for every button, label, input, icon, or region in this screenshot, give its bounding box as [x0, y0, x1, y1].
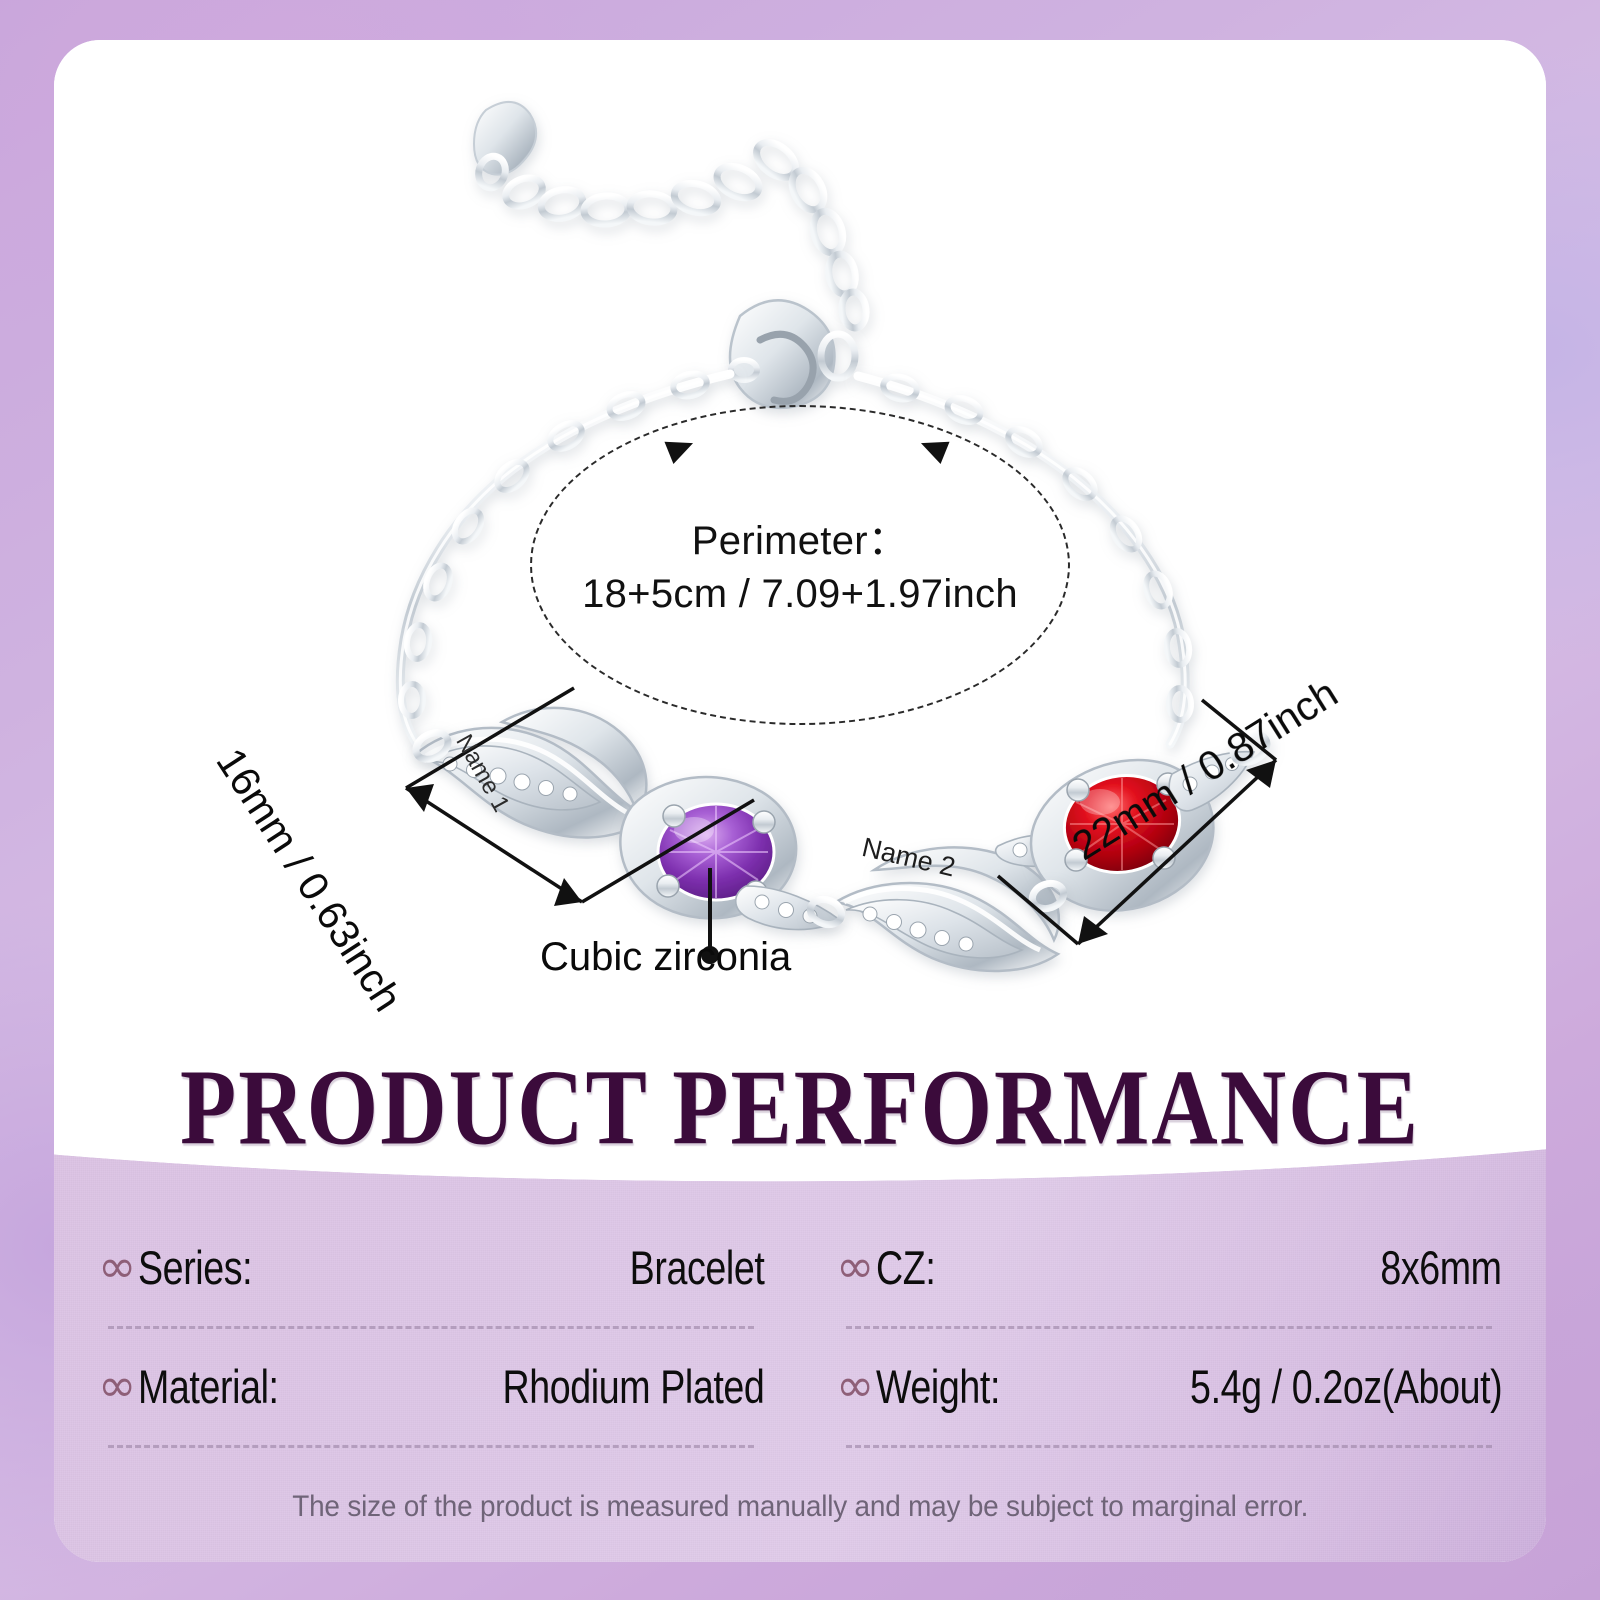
spec-value-cz: 8x6mm — [1381, 1240, 1502, 1295]
perimeter-value: 18+5cm / 7.09+1.97inch — [530, 568, 1070, 621]
spec-separator — [846, 1326, 1492, 1329]
spec-row: ∞ CZ: 8x6mm — [836, 1240, 1502, 1326]
spec-row: ∞ Material: Rhodium Plated — [98, 1359, 764, 1445]
spec-value-material: Rhodium Plated — [502, 1359, 764, 1414]
spec-row: ∞ Series: Bracelet — [98, 1240, 764, 1326]
spec-value-series: Bracelet — [629, 1240, 764, 1295]
extension-chain — [474, 102, 868, 329]
measurement-disclaimer: The size of the product is measured manu… — [54, 1490, 1546, 1524]
spec-separator — [108, 1326, 754, 1329]
product-card: Perimeter： 18+5cm / 7.09+1.97inch 16mm /… — [54, 40, 1546, 1562]
gem-setting-purple — [620, 777, 840, 929]
spec-separator — [846, 1445, 1492, 1448]
infinity-icon: ∞ — [836, 1362, 874, 1408]
disclaimer-text: The size of the product is measured manu… — [292, 1490, 1308, 1524]
product-photo-area: Perimeter： 18+5cm / 7.09+1.97inch 16mm /… — [54, 40, 1546, 1060]
spec-key-weight: Weight: — [876, 1359, 1000, 1414]
infographic-page: Perimeter： 18+5cm / 7.09+1.97inch 16mm /… — [0, 0, 1600, 1600]
spec-table: ∞ Series: Bracelet ∞ CZ: 8x6mm — [80, 1240, 1520, 1478]
spec-cell-cz: ∞ CZ: 8x6mm — [818, 1240, 1520, 1359]
spec-cell-weight: ∞ Weight: 5.4g / 0.2oz(About) — [818, 1359, 1520, 1478]
spec-value-weight: 5.4g / 0.2oz(About) — [1190, 1359, 1502, 1414]
spec-key-series: Series: — [138, 1240, 252, 1295]
spec-cell-material: ∞ Material: Rhodium Plated — [80, 1359, 782, 1478]
cubic-zirconia-label: Cubic zirconia — [540, 935, 791, 980]
perimeter-label: Perimeter： — [530, 515, 1070, 568]
spec-separator — [108, 1445, 754, 1448]
spec-key-cz: CZ: — [876, 1240, 935, 1295]
spec-row: ∞ Weight: 5.4g / 0.2oz(About) — [836, 1359, 1502, 1445]
spec-cell-series: ∞ Series: Bracelet — [80, 1240, 782, 1359]
infinity-icon: ∞ — [98, 1362, 136, 1408]
lobster-clasp — [730, 300, 855, 408]
page-title: PRODUCT PERFORMANCE — [54, 1054, 1546, 1160]
spec-key-material: Material: — [138, 1359, 279, 1414]
infinity-icon: ∞ — [836, 1243, 874, 1289]
page-title-text: PRODUCT PERFORMANCE — [180, 1044, 1420, 1169]
infinity-icon: ∞ — [98, 1243, 136, 1289]
perimeter-callout: Perimeter： 18+5cm / 7.09+1.97inch — [530, 515, 1070, 621]
